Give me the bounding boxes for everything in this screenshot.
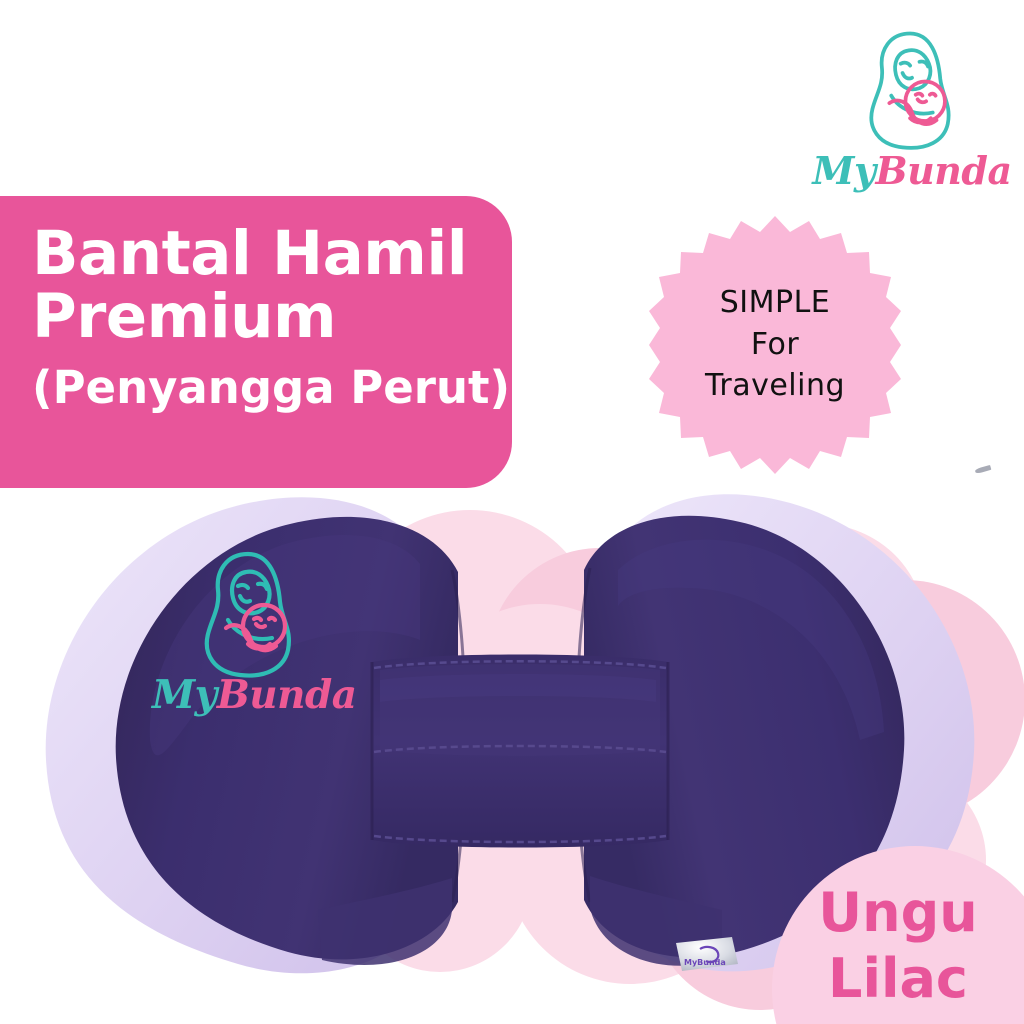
badge-line-3: Traveling [705, 367, 845, 405]
svg-text:MyBunda: MyBunda [684, 958, 726, 967]
product-marketing-image: MyBunda MyBunda [0, 0, 1024, 1024]
pillow-brand-watermark: MyBunda [152, 546, 348, 736]
brand-name-my: My [812, 148, 875, 193]
title-banner: Bantal Hamil Premium (Penyangga Perut) [0, 196, 512, 488]
product-title-line-1: Bantal Hamil [32, 222, 482, 285]
mother-holding-baby-icon [184, 546, 316, 682]
brand-wordmark: MyBunda [812, 152, 1012, 190]
color-variant-label: Ungu Lilac [772, 880, 1024, 1012]
badge-line-2: For [751, 326, 799, 364]
mother-holding-baby-icon [842, 26, 982, 154]
brand-name-bunda: Bunda [217, 672, 357, 718]
badge-line-1: SIMPLE [720, 284, 831, 322]
brand-name-my: My [152, 672, 217, 718]
color-name-line-2: Lilac [772, 946, 1024, 1012]
brand-logo: MyBunda [812, 26, 1012, 204]
product-subtitle: (Penyangga Perut) [32, 363, 482, 413]
simple-for-traveling-badge: SIMPLE For Traveling [647, 214, 903, 476]
pillow-brand-wordmark: MyBunda [152, 676, 348, 715]
color-name-line-1: Ungu [772, 880, 1024, 946]
brand-name-bunda: Bunda [876, 148, 1012, 193]
product-title-line-2: Premium [32, 285, 482, 348]
